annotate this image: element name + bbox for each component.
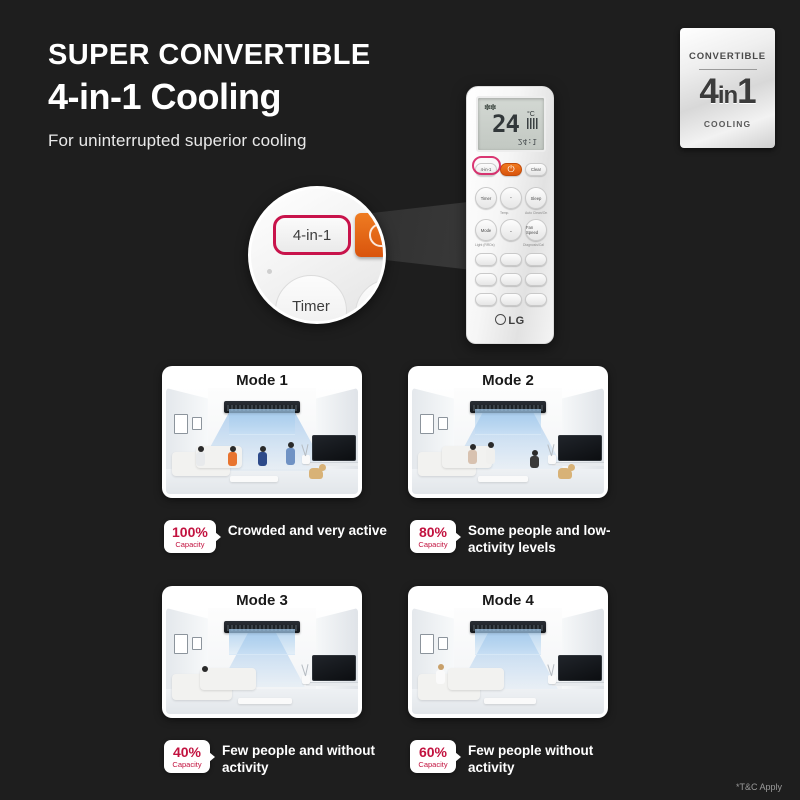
mode-1-capacity-value: 100% xyxy=(172,525,208,539)
remote-button-blank-2[interactable] xyxy=(500,253,522,266)
remote-control: ✽✽ 24 °C 24:1 4-in-1 ⏻ Clear Timer ⌃ Sle… xyxy=(466,86,554,344)
badge-number-4: 4 xyxy=(699,72,717,111)
magnified-adjacent-button[interactable] xyxy=(355,279,386,324)
mode-1-room-illustration xyxy=(166,388,358,494)
mode-2-room-illustration xyxy=(412,388,604,494)
promo-banner: SUPER CONVERTIBLE 4-in-1 Cooling For uni… xyxy=(0,0,800,800)
wall-frame-large xyxy=(174,414,188,434)
tv-icon xyxy=(312,655,356,681)
convertible-badge: CONVERTIBLE 4in1 COOLING xyxy=(680,28,775,148)
mode-3-title: Mode 3 xyxy=(162,592,362,609)
badge-top-label: CONVERTIBLE xyxy=(689,51,766,62)
person-4 xyxy=(286,442,295,465)
dog xyxy=(309,468,323,479)
wall-frame-large xyxy=(420,414,434,434)
person-3 xyxy=(530,450,539,468)
headline-subtitle: For uninterrupted superior cooling xyxy=(48,131,468,151)
mode-3-capacity-badge: 40% Capacity xyxy=(164,740,210,773)
wall-frame-small xyxy=(438,417,448,430)
plant-decor xyxy=(546,664,558,684)
remote-button-temp-up[interactable]: ⌃ xyxy=(500,187,522,209)
person-1 xyxy=(468,444,477,464)
mode-1-capacity-badge: 100% Capacity xyxy=(164,520,216,553)
coffee-table xyxy=(478,476,528,482)
magnified-led-dot xyxy=(267,269,272,274)
person-3 xyxy=(258,446,267,466)
tv-stand xyxy=(306,682,358,686)
wall-frame-large xyxy=(420,634,434,654)
magnified-4in1-button[interactable]: 4-in-1 xyxy=(273,215,351,255)
remote-button-blank-6[interactable] xyxy=(525,273,547,286)
mode-2-capacity-label: Capacity xyxy=(418,540,448,549)
magnifier-lens: 4-in-1 Timer xyxy=(248,186,386,324)
mode-1-title: Mode 1 xyxy=(162,372,362,389)
mode-1-caption: Crowded and very active xyxy=(228,523,387,540)
mode-2-title: Mode 2 xyxy=(408,372,608,389)
mode-4-room-illustration xyxy=(412,608,604,714)
person-2 xyxy=(228,446,237,466)
headline-line-1: SUPER CONVERTIBLE xyxy=(48,40,468,72)
ac-slats xyxy=(475,409,541,435)
lg-circle-icon xyxy=(495,314,506,325)
remote-button-sleep[interactable]: Sleep xyxy=(525,187,547,209)
mode-4-capacity-row: 60% Capacity Few people without activity xyxy=(410,740,628,777)
4in1-highlight-ring xyxy=(472,156,501,175)
person-1 xyxy=(196,446,205,466)
remote-button-blank-5[interactable] xyxy=(500,273,522,286)
mode-1-capacity-row: 100% Capacity Crowded and very active xyxy=(164,520,387,553)
badge-number-1: 1 xyxy=(737,72,755,111)
wall-frame-small xyxy=(192,637,202,650)
fan-level-icon xyxy=(527,118,539,129)
wall-frame-small xyxy=(192,417,202,430)
mode-3-capacity-value: 40% xyxy=(172,745,202,759)
mode-2-capacity-value: 80% xyxy=(418,525,448,539)
mode-3-caption: Few people and without activity xyxy=(222,743,382,777)
remote-button-fan-speed[interactable]: Fan Speed xyxy=(525,219,547,241)
coffee-table xyxy=(230,476,278,482)
tv-stand xyxy=(552,682,604,686)
headline-line-2: 4-in-1 Cooling xyxy=(48,74,468,119)
mode-4-caption: Few people without activity xyxy=(468,743,628,777)
lg-brand-logo: LG xyxy=(467,314,553,327)
wall-frame-small xyxy=(438,637,448,650)
remote-sublabel-light: Light (RRDs) xyxy=(475,243,495,247)
plant-decor xyxy=(300,444,312,464)
mode-card-2: Mode 2 xyxy=(408,366,608,498)
ac-slats xyxy=(229,629,295,655)
dog xyxy=(558,468,572,479)
badge-divider xyxy=(699,69,757,70)
person-2 xyxy=(486,442,495,464)
tv-stand xyxy=(552,462,604,466)
plant-decor xyxy=(546,444,558,464)
lcd-secondary-readout: 24:1 xyxy=(518,137,537,146)
mode-3-capacity-row: 40% Capacity Few people and without acti… xyxy=(164,740,382,777)
mode-4-capacity-badge: 60% Capacity xyxy=(410,740,456,773)
magnified-power-button[interactable] xyxy=(355,213,386,257)
mode-4-title: Mode 4 xyxy=(408,592,608,609)
lcd-degree-unit: °C xyxy=(527,111,535,118)
remote-button-clear[interactable]: Clear xyxy=(525,163,547,176)
mode-card-3: Mode 3 xyxy=(162,586,362,718)
remote-button-blank-8[interactable] xyxy=(500,293,522,306)
coffee-table xyxy=(484,698,536,704)
remote-button-temp-down[interactable]: ⌄ xyxy=(500,219,522,241)
remote-button-power[interactable]: ⏻ xyxy=(500,163,522,176)
tv-stand xyxy=(306,462,358,466)
mode-card-4: Mode 4 xyxy=(408,586,608,718)
remote-button-blank-1[interactable] xyxy=(475,253,497,266)
plant-decor xyxy=(300,664,312,684)
remote-button-blank-3[interactable] xyxy=(525,253,547,266)
tv-icon xyxy=(558,435,602,461)
badge-in: in xyxy=(718,82,737,109)
tv-icon xyxy=(312,435,356,461)
sofa-section xyxy=(442,446,492,468)
mode-3-capacity-label: Capacity xyxy=(172,760,202,769)
magnified-timer-button[interactable]: Timer xyxy=(275,275,347,324)
remote-sublabel-temp: Temp. xyxy=(500,211,509,215)
mode-card-1: Mode 1 xyxy=(162,366,362,498)
remote-button-blank-7[interactable] xyxy=(475,293,497,306)
wall-frame-large xyxy=(174,634,188,654)
ac-slats xyxy=(229,409,295,435)
terms-footnote: *T&C Apply xyxy=(736,782,782,792)
mode-2-capacity-row: 80% Capacity Some people and low-activit… xyxy=(410,520,628,557)
lcd-temperature: 24 xyxy=(492,110,519,138)
badge-bottom-label: COOLING xyxy=(704,119,751,129)
lg-brand-text: LG xyxy=(508,315,524,327)
person-1 xyxy=(436,664,445,684)
ac-slats xyxy=(475,629,541,655)
mode-3-room-illustration xyxy=(166,608,358,714)
mode-1-capacity-label: Capacity xyxy=(172,540,208,549)
mode-2-caption: Some people and low-activity levels xyxy=(468,523,628,557)
remote-button-mode[interactable]: Mode xyxy=(475,219,497,241)
remote-button-blank-9[interactable] xyxy=(525,293,547,306)
badge-number-group: 4in1 xyxy=(699,74,755,109)
mode-4-capacity-label: Capacity xyxy=(418,760,448,769)
remote-sublabel-diagnostics: Diagnosis/Cal xyxy=(523,243,544,247)
remote-button-timer[interactable]: Timer xyxy=(475,187,497,209)
tv-icon xyxy=(558,655,602,681)
mode-2-capacity-badge: 80% Capacity xyxy=(410,520,456,553)
mode-4-capacity-value: 60% xyxy=(418,745,448,759)
remote-sublabel-auto-clean: Auto Clean/On xyxy=(525,211,547,215)
person-1 xyxy=(200,666,209,686)
headline-block: SUPER CONVERTIBLE 4-in-1 Cooling For uni… xyxy=(48,40,468,151)
coffee-table xyxy=(238,698,292,704)
remote-button-blank-4[interactable] xyxy=(475,273,497,286)
remote-lcd-display: ✽✽ 24 °C 24:1 xyxy=(476,96,546,152)
sofa-section xyxy=(448,668,504,690)
